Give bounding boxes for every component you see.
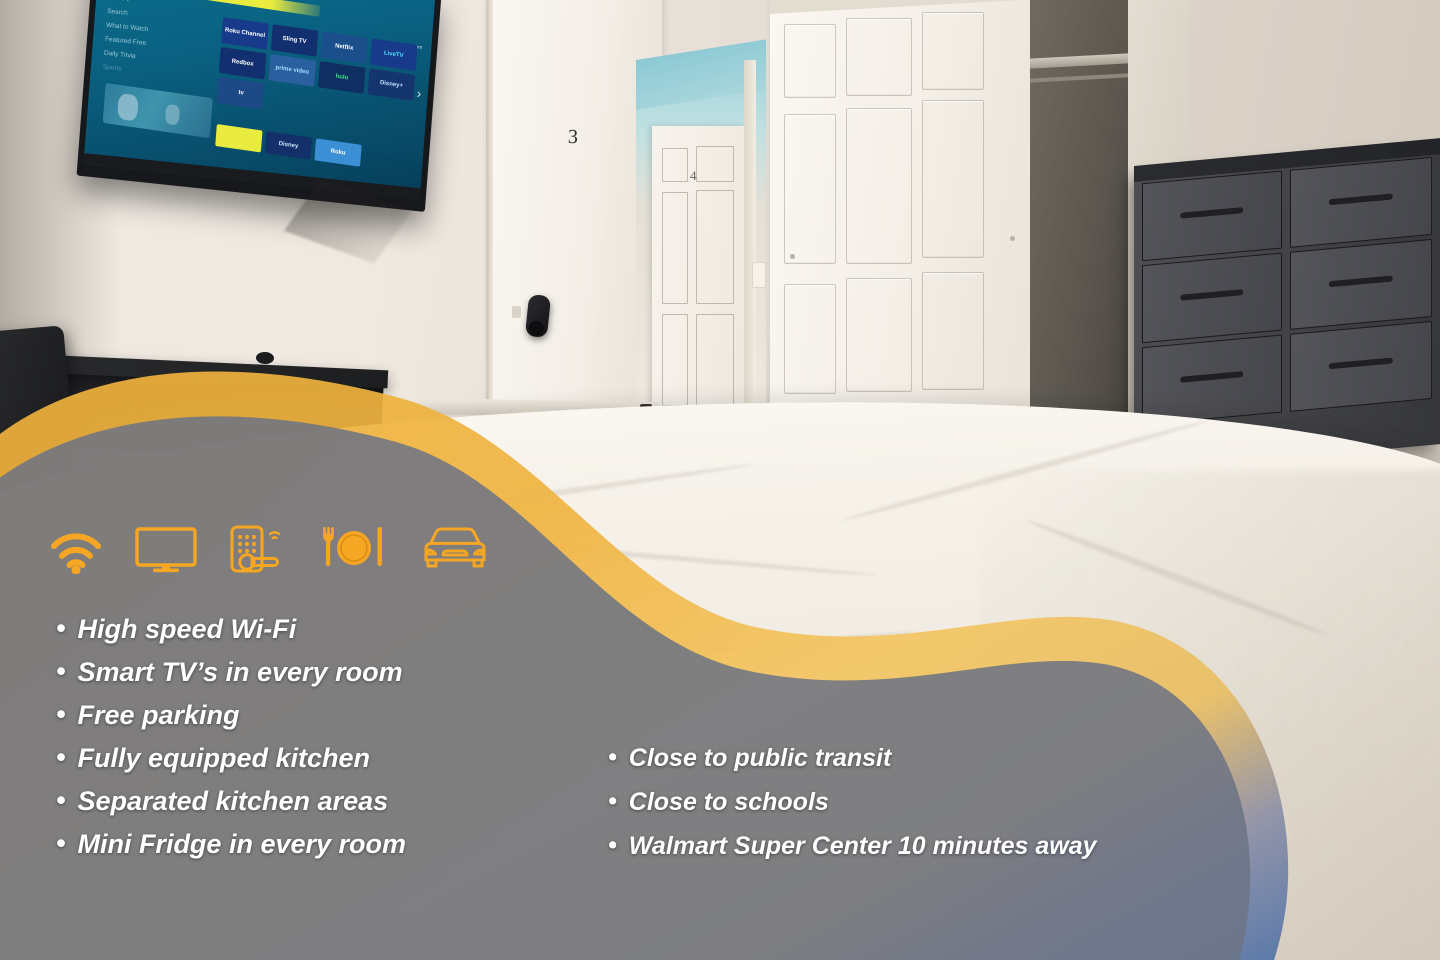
amenity-left-label: Free parking [77, 694, 239, 737]
amenity-left-label: Mini Fridge in every room [77, 823, 406, 866]
amenity-left-item: •Separated kitchen areas [56, 780, 596, 823]
bullet-marker-icon: • [56, 787, 65, 814]
amenities-list-right: •Close to public transit•Close to school… [608, 736, 1288, 868]
amenity-left-item: •Fully equipped kitchen [56, 737, 596, 780]
amenity-right-label: Close to public transit [629, 736, 892, 780]
amenity-left-item: •Smart TV’s in every room [56, 651, 596, 694]
bullet-marker-icon: • [608, 745, 617, 770]
bullet-marker-icon: • [56, 658, 65, 685]
bullet-marker-icon: • [608, 789, 617, 814]
bullet-marker-icon: • [56, 744, 65, 771]
car-parking-icon [418, 526, 492, 574]
amenity-right-item: •Close to public transit [608, 736, 1288, 780]
bullet-marker-icon: • [56, 830, 65, 857]
amenity-right-label: Walmart Super Center 10 minutes away [629, 824, 1097, 868]
wifi-icon [48, 526, 104, 574]
amenity-right-item: •Close to schools [608, 780, 1288, 824]
amenity-left-label: Fully equipped kitchen [77, 737, 370, 780]
amenity-right-label: Close to schools [629, 780, 829, 824]
amenity-left-label: Smart TV’s in every room [77, 651, 402, 694]
amenity-left-item: •High speed Wi-Fi [56, 608, 596, 651]
amenities-list-left: •High speed Wi-Fi•Smart TV’s in every ro… [56, 608, 596, 866]
bullet-marker-icon: • [56, 615, 65, 642]
amenity-left-label: Separated kitchen areas [77, 780, 388, 823]
amenity-icon-row [48, 522, 492, 574]
smart-tv-icon [134, 526, 198, 574]
promo-graphic: Roku TV Home Live TV Search What to Watc… [0, 0, 1440, 960]
bullet-marker-icon: • [608, 833, 617, 858]
amenity-left-item: •Mini Fridge in every room [56, 823, 596, 866]
kitchen-dining-icon [320, 522, 388, 574]
amenity-left-item: •Free parking [56, 694, 596, 737]
overlay-content: •High speed Wi-Fi•Smart TV’s in every ro… [0, 0, 1440, 960]
bullet-marker-icon: • [56, 701, 65, 728]
smart-lock-icon [228, 522, 290, 574]
amenity-left-label: High speed Wi-Fi [77, 608, 296, 651]
amenity-right-item: •Walmart Super Center 10 minutes away [608, 824, 1288, 868]
